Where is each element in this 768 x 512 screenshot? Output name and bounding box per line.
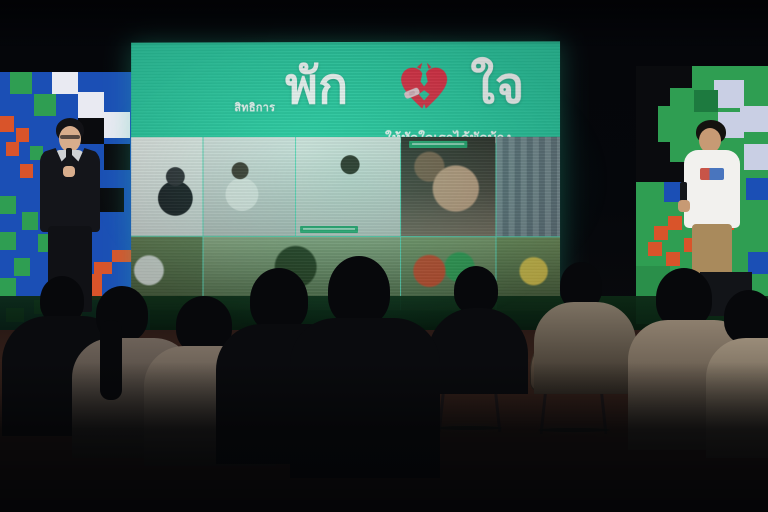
presenter-left-glasses xyxy=(60,135,80,139)
slide-title-word-right: ใจ xyxy=(470,61,524,111)
collage-photo xyxy=(203,137,295,236)
collage-photo xyxy=(497,137,561,237)
presenter-right-tshirt xyxy=(684,150,740,228)
presenter-right-hand xyxy=(678,200,690,212)
presenter-left-hand xyxy=(63,166,75,177)
slide-kicker-text: สิทธิการ xyxy=(234,98,275,116)
collage-photo xyxy=(131,137,202,236)
slide-title-word-left: พัก xyxy=(285,61,348,111)
collage-photo xyxy=(296,137,400,236)
screenshot-root: สิทธิการ พัก ใจ ให้หัวใจเราได้พักบ้าง xyxy=(0,0,768,512)
broken-heart-bandage-icon xyxy=(395,62,453,116)
presenter-right-shirt-print xyxy=(700,168,724,180)
collage-photo-tag xyxy=(409,141,467,148)
collage-photo-tag xyxy=(300,226,358,233)
collage-photo xyxy=(401,137,495,236)
